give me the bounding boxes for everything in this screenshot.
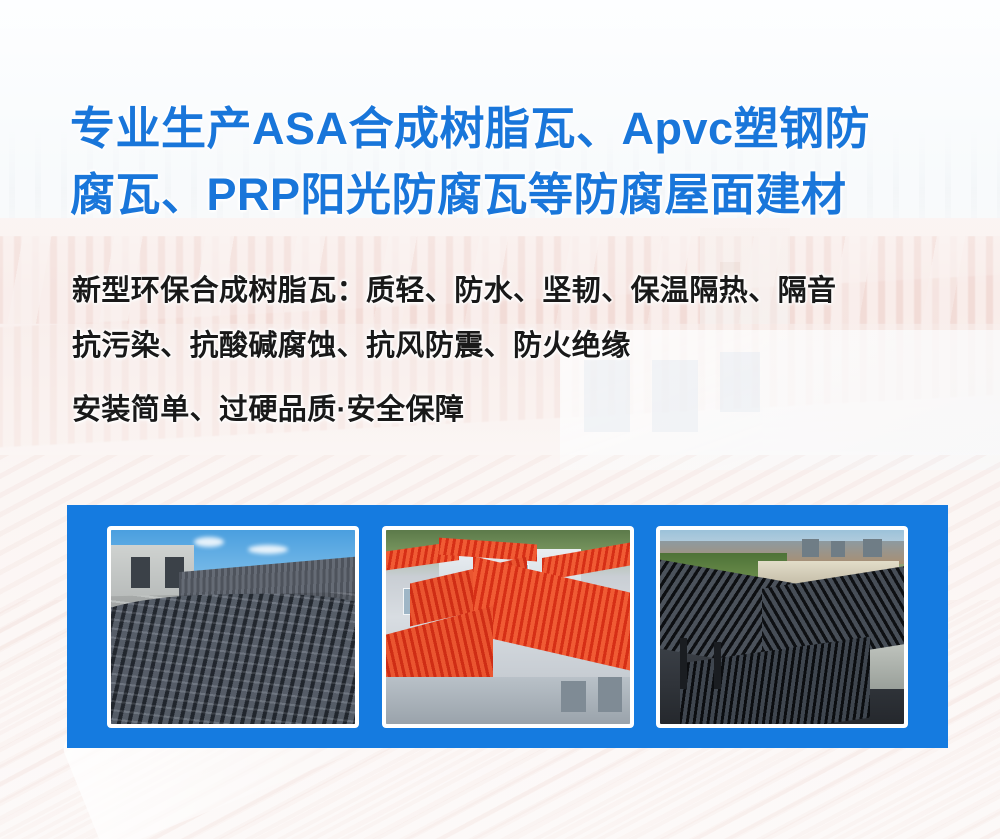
headline: 专业生产ASA合成树脂瓦、Apvc塑钢防 腐瓦、PRP阳光防腐瓦等防腐屋面建材 [70,96,950,228]
feature-line-2: 抗污染、抗酸碱腐蚀、抗风防震、防火绝缘 [72,331,962,361]
cloud [248,545,288,554]
photo-red-roof-main [473,556,629,673]
banner-image: 专业生产ASA合成树脂瓦、Apvc塑钢防 腐瓦、PRP阳光防腐瓦等防腐屋面建材 … [0,0,1000,839]
photo-window [131,557,151,588]
photo-town-building [802,539,819,556]
black-resin-tile-roof-photo[interactable] [656,526,908,728]
grey-roof-image [111,530,355,724]
red-resin-tile-roof-photo[interactable] [382,526,634,728]
photo-building-base [386,677,630,724]
feature-line-3: 安装简单、过硬品质·安全保障 [72,395,962,425]
photo-window [598,677,622,712]
feature-line-1: 新型环保合成树脂瓦：质轻、防水、坚韧、保温隔热、隔音 [72,276,962,306]
black-roof-image [660,530,904,724]
gallery-row [67,505,948,748]
feature-list: 新型环保合成树脂瓦：质轻、防水、坚韧、保温隔热、隔音 抗污染、抗酸碱腐蚀、抗风防… [72,276,962,425]
photo-support-post [680,638,687,688]
photo-main-tile-roof [111,591,355,723]
gallery-panel [67,505,948,748]
headline-line-2: 腐瓦、PRP阳光防腐瓦等防腐屋面建材 [70,162,950,228]
grey-resin-tile-roof-photo[interactable] [107,526,359,728]
photo-town-building [831,541,846,557]
headline-line-1: 专业生产ASA合成树脂瓦、Apvc塑钢防 [70,96,950,162]
photo-town-building [863,539,883,556]
photo-window [561,681,585,712]
red-roof-image [386,530,630,724]
photo-support-post [714,642,721,689]
